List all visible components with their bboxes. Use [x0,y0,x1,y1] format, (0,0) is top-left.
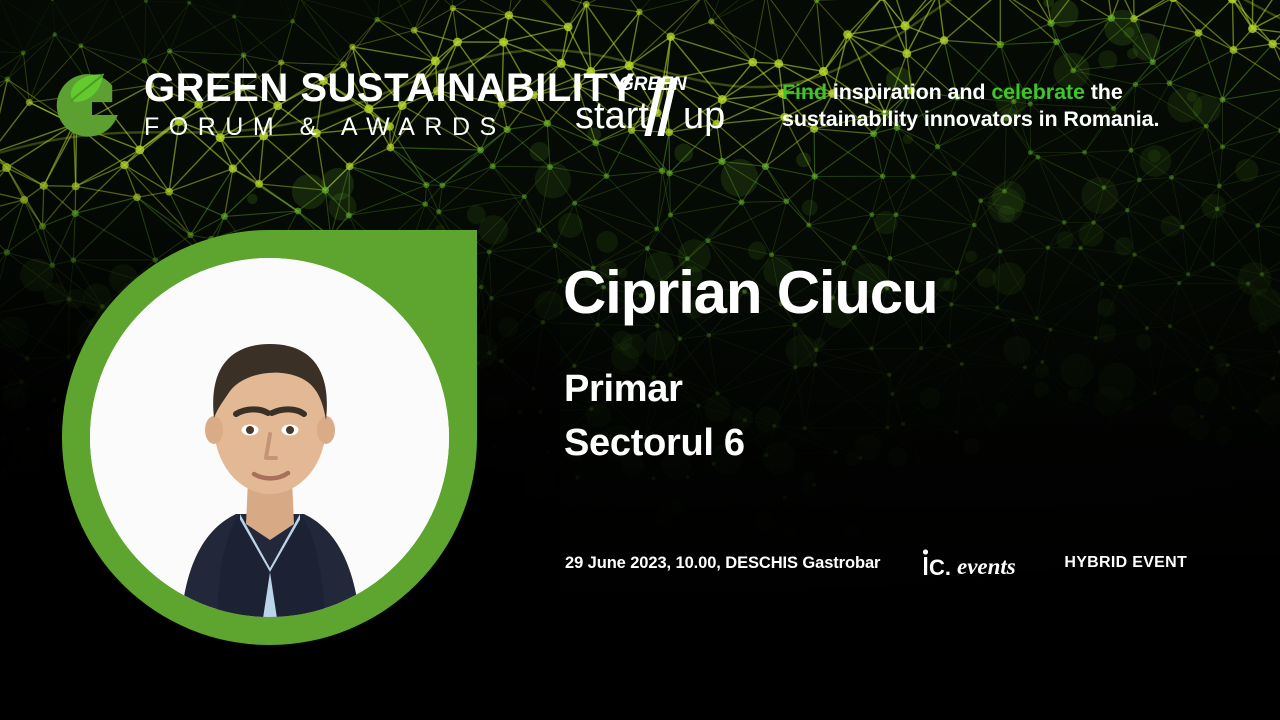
event-date-venue: 29 June 2023, 10.00, DESCHIS Gastrobar [565,554,880,573]
tagline-mid: inspiration and [827,80,991,104]
ic-events-c: C. [929,555,951,580]
event-logo: GREEN SUSTAINABILITY FORUM & AWARDS [46,58,636,150]
startup-green-word: GREEN [619,74,688,95]
event-logo-line1: GREEN SUSTAINABILITY [144,68,636,108]
speaker-portrait-frame [62,230,477,645]
tagline-tail: the [1085,80,1123,104]
startup-up-word: up [683,95,725,137]
footer: 29 June 2023, 10.00, DESCHIS Gastrobar C… [565,546,1187,580]
speaker-portrait-circle [90,258,449,617]
speaker-name: Ciprian Ciucu [563,258,937,328]
tagline-line1: Find inspiration and celebrate the [782,79,1252,106]
hybrid-event-label: HYBRID EVENT [1064,554,1187,572]
ic-events-word: events [957,554,1016,579]
speaker-role-line2: Sectorul 6 [564,416,745,470]
speaker-role: Primar Sectorul 6 [564,362,745,470]
leaf-g-mark-icon [46,58,138,150]
event-speaker-card: GREEN SUSTAINABILITY FORUM & AWARDS GREE… [0,0,1280,720]
event-logo-line2: FORUM & AWARDS [144,112,636,142]
ic-events-logo: C. events [920,546,1024,580]
startup-start-word: start [575,95,649,137]
tagline-highlight-find: Find [782,80,827,104]
tagline-line2: sustainability innovators in Romania. [782,106,1252,133]
green-startup-logo: GREEN start up [575,64,745,140]
speaker-portrait-image [90,258,449,617]
tagline-highlight-celebrate: celebrate [991,80,1085,104]
speaker-role-line1: Primar [564,362,745,416]
tagline: Find inspiration and celebrate the susta… [782,79,1252,133]
